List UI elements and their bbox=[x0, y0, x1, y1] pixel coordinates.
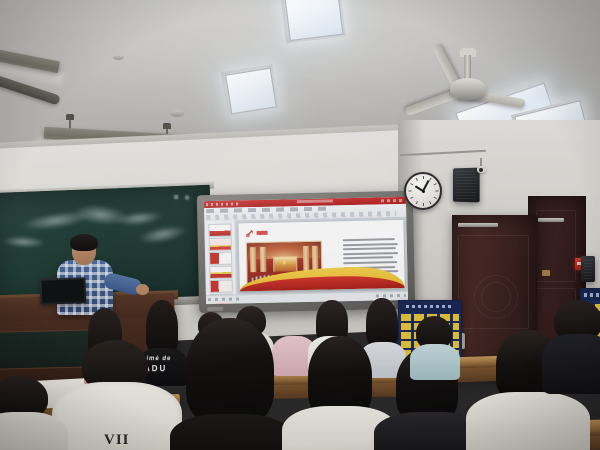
smart-display[interactable] bbox=[197, 191, 415, 313]
current-slide[interactable] bbox=[238, 220, 404, 291]
student-torso bbox=[170, 414, 292, 450]
clock-tick bbox=[434, 183, 437, 185]
led-panel-2 bbox=[225, 68, 277, 115]
clock-tick bbox=[410, 197, 413, 199]
slide-thumbnail[interactable] bbox=[210, 280, 233, 293]
chalk-mark bbox=[1, 235, 46, 249]
presenter-hand bbox=[136, 284, 149, 295]
student-front-center bbox=[176, 318, 284, 450]
slide-thumbnail[interactable] bbox=[209, 252, 232, 265]
surveillance-camera-icon bbox=[477, 166, 486, 173]
clock-tick bbox=[423, 203, 424, 206]
clock-tick bbox=[434, 197, 437, 199]
student-shirt-text-vii: VII bbox=[104, 432, 130, 449]
clock-tick bbox=[416, 201, 418, 204]
door-lock-icon bbox=[542, 270, 550, 276]
document-title-text bbox=[297, 199, 333, 203]
ceiling-fan-right bbox=[430, 48, 510, 108]
clock-center-pin bbox=[422, 190, 425, 193]
student-hair bbox=[186, 318, 274, 424]
presenter-hair bbox=[70, 234, 98, 251]
door-panel bbox=[458, 235, 529, 329]
chalkboard-screw bbox=[174, 195, 178, 199]
window-controls[interactable] bbox=[381, 198, 403, 202]
party-emblem-icon bbox=[246, 229, 255, 238]
chalk-mark bbox=[136, 222, 188, 247]
zoom-controls[interactable] bbox=[376, 294, 406, 298]
clock-tick bbox=[423, 176, 424, 179]
slide-decorative-wave bbox=[239, 266, 404, 291]
display-screen[interactable] bbox=[204, 197, 408, 304]
student-torso bbox=[466, 392, 590, 450]
student-torso bbox=[542, 334, 600, 394]
clock-tick bbox=[416, 178, 418, 181]
led-panel-1 bbox=[285, 0, 344, 41]
clock-tick bbox=[409, 191, 412, 192]
speaker-grill bbox=[456, 171, 477, 199]
door-push-plate bbox=[458, 223, 498, 227]
slide-thumbnail-panel[interactable] bbox=[204, 220, 237, 296]
door-push-plate bbox=[538, 218, 564, 222]
slide-heading-text bbox=[257, 231, 268, 235]
smoke-detector-1 bbox=[113, 55, 124, 60]
speaker-grill bbox=[584, 259, 592, 279]
podium-laptop[interactable] bbox=[39, 277, 86, 309]
clock-tick bbox=[429, 178, 431, 181]
clock-tick bbox=[410, 183, 413, 185]
student-torso bbox=[410, 344, 460, 380]
wall-speaker bbox=[453, 168, 480, 203]
classroom-scene: aimé de ADU Kappa VII bbox=[0, 0, 600, 450]
student-edge-left bbox=[0, 376, 60, 450]
display-brand-logo bbox=[207, 307, 223, 311]
laptop-screen[interactable] bbox=[42, 279, 85, 302]
slide-thumbnail[interactable] bbox=[209, 266, 232, 279]
fan-motor bbox=[450, 78, 486, 100]
student-torso bbox=[0, 412, 68, 450]
student-mid-left bbox=[416, 316, 452, 372]
slide-thumbnail[interactable] bbox=[208, 224, 231, 237]
clock-tick bbox=[429, 201, 431, 204]
smoke-detector-2 bbox=[170, 110, 184, 117]
grid-board-header bbox=[399, 301, 461, 313]
clock-tick bbox=[436, 191, 439, 192]
wall-clock bbox=[404, 172, 442, 210]
chalkboard-screw bbox=[185, 196, 189, 200]
student-edge-right bbox=[548, 300, 600, 390]
slide-editing-stage[interactable] bbox=[235, 217, 408, 296]
student-front-left: VII bbox=[56, 340, 174, 450]
ceiling-fan-left bbox=[0, 52, 32, 102]
quick-access-toolbar[interactable] bbox=[206, 202, 240, 206]
wall-speaker-secondary bbox=[581, 256, 595, 282]
status-left-text bbox=[208, 297, 242, 301]
slide-thumbnail[interactable] bbox=[209, 238, 232, 251]
laptop-lid bbox=[39, 277, 86, 305]
